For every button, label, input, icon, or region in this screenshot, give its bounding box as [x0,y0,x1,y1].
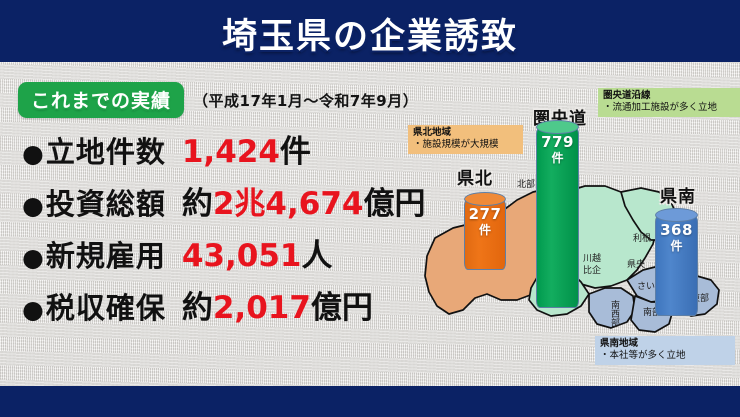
callout-south: 県南地域 ・本社等が多く立地 [595,336,735,365]
callout-title: 県南地域 [600,338,730,350]
footer-bar [0,386,740,417]
stat-unit: 億円 [311,290,373,326]
bar-value: 368 [655,222,698,239]
bar-label: 779 件 [536,134,579,165]
map-label-tone: 利根 [633,234,651,244]
bar-unit: 件 [655,239,698,253]
page-title: 埼玉県の企業誘致 [0,8,740,59]
stat-row-employment: ● 新規雇用 43,051人 [22,235,442,278]
header-bar: 埼玉県の企業誘致 [0,0,740,62]
stat-row-locations: ● 立地件数 1,424件 [22,131,442,174]
stat-approx: 約 [182,290,213,326]
bullet-icon: ● [22,184,44,227]
saitama-map: 北部 秩父 利根 川越 比企 県央 西部 さいたま 南西部 南部 東部 県北地域… [405,88,740,378]
area-name-north: 県北 [457,164,493,189]
bullet-icon: ● [22,288,44,331]
stat-label: 立地件数 [46,131,166,174]
callout-north: 県北地域 ・施設規模が大規模 [408,125,523,154]
bar-top-ellipse [464,192,506,206]
callout-detail: ・施設規模が大規模 [413,139,518,151]
callout-title: 県北地域 [413,127,518,139]
bar-unit: 件 [464,223,506,237]
map-label-hokubu: 北部 [517,180,535,190]
bar-value: 277 [464,206,506,223]
area-name-south: 県南 [660,182,696,207]
bar-label: 368 件 [655,222,698,253]
stat-row-tax: ● 税収確保 約2,017億円 [22,287,442,330]
bullet-icon: ● [22,236,44,279]
bullet-icon: ● [22,132,44,175]
map-label-kawagoe: 川越 [583,254,601,264]
callout-detail: ・本社等が多く立地 [600,350,730,362]
stat-number: 2,017 [213,290,311,326]
callout-expressway: 圏央道沿線 ・流通加工施設が多く立地 [598,88,740,117]
bar-south: 368 件 [655,208,698,316]
bar-expressway: 779 件 [536,120,579,308]
stat-value: 約2兆4,674億円 [182,183,426,226]
bar-value: 779 [536,134,579,151]
achievements-period: （平成17年1月〜令和7年9月） [193,90,418,111]
map-label-nanseibu: 南西部 [609,300,619,327]
achievements-badge: これまでの実績 [18,82,184,118]
bar-top-ellipse [655,208,698,222]
stat-number: 1,424 [182,134,280,170]
stat-label: 税収確保 [46,287,166,330]
stat-number: 43,051 [182,238,302,274]
bar-unit: 件 [536,151,579,165]
stat-value: 43,051人 [182,235,333,278]
map-label-kenou: 県央 [627,260,645,270]
stat-value: 1,424件 [182,131,311,174]
bar-label: 277 件 [464,206,506,237]
stat-label: 新規雇用 [46,235,166,278]
stat-number: 2兆4,674 [213,186,364,222]
stat-unit: 人 [301,238,332,274]
bar-north: 277 件 [464,192,506,270]
stats-list: ● 立地件数 1,424件 ● 投資総額 約2兆4,674億円 ● 新規雇用 4… [22,131,442,339]
slide: 埼玉県の企業誘致 これまでの実績 （平成17年1月〜令和7年9月） ● 立地件数… [0,0,740,417]
callout-title: 圏央道沿線 [603,90,739,102]
map-label-hiki: 比企 [583,266,601,276]
stat-label: 投資総額 [46,183,166,226]
stat-unit: 件 [280,134,311,170]
bar-top-ellipse [536,120,579,134]
stat-row-investment: ● 投資総額 約2兆4,674億円 [22,183,442,226]
callout-detail: ・流通加工施設が多く立地 [603,102,739,114]
stat-value: 約2,017億円 [182,287,373,330]
achievements-badge-row: これまでの実績 （平成17年1月〜令和7年9月） [18,82,418,118]
stat-approx: 約 [182,186,213,222]
